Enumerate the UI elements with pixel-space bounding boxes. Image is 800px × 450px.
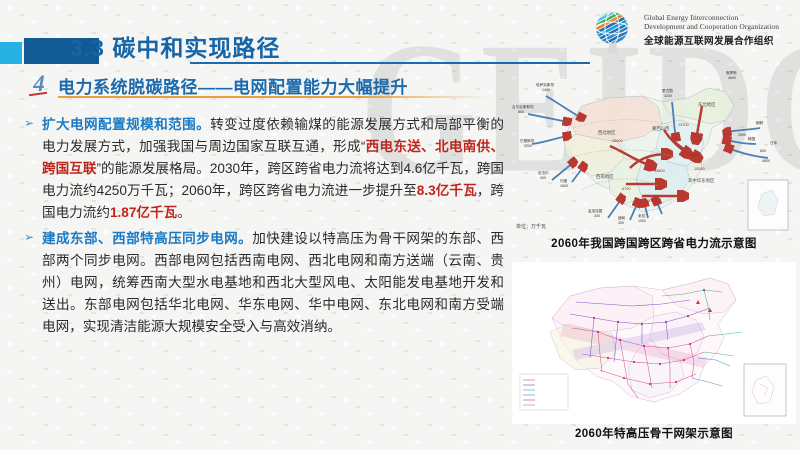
svg-text:4600: 4600 — [728, 76, 736, 80]
bullet-2-text: 建成东部、西部特高压同步电网。加快建设以特高压为骨干网架的东部、西部两个同步电网… — [42, 228, 504, 338]
text-run-blue: 扩大电网配置规模和范围。 — [42, 117, 210, 132]
svg-text:1000: 1000 — [638, 219, 646, 223]
svg-text:蒙西山西: 蒙西山西 — [652, 125, 670, 132]
geidco-logo: Global Energy Interconnection Developmen… — [588, 8, 794, 54]
svg-text:孟加拉国: 孟加拉国 — [588, 208, 603, 213]
svg-text:300: 300 — [618, 221, 624, 225]
figure-1-caption: 2060年我国跨国跨区跨省电力流示意图 — [512, 235, 796, 251]
svg-text:韩国: 韩国 — [748, 136, 756, 141]
svg-text:蒙古国: 蒙古国 — [662, 88, 673, 93]
svg-text:13700: 13700 — [678, 123, 689, 127]
svg-text:日本: 日本 — [770, 140, 778, 145]
text-run-normal: 。 — [177, 205, 191, 220]
svg-text:哈萨克斯坦: 哈萨克斯坦 — [536, 82, 554, 87]
svg-text:巴基斯坦: 巴基斯坦 — [520, 138, 535, 143]
list-item: ➢ 建成东部、西部特高压同步电网。加快建设以特高压为骨干网架的东部、西部两个同步… — [24, 228, 504, 338]
figure-2-caption: 2060年特高压骨干网架示意图 — [512, 425, 796, 441]
svg-text:15700: 15700 — [646, 199, 657, 203]
subtitle-divider — [58, 96, 488, 98]
svg-text:1400: 1400 — [542, 88, 550, 92]
svg-text:缅甸: 缅甸 — [618, 215, 626, 220]
svg-text:6700: 6700 — [622, 187, 630, 191]
text-run-red: 1.87亿千瓦 — [110, 205, 177, 220]
svg-text:10000: 10000 — [694, 167, 705, 171]
section-number-badge: 4 — [26, 71, 52, 97]
title-accent-square — [0, 42, 22, 64]
section-subtitle: 电力系统脱碳路径——电网配置能力大幅提升 — [58, 73, 408, 98]
svg-text:朝鲜: 朝鲜 — [756, 120, 764, 125]
svg-text:4600: 4600 — [762, 159, 770, 163]
svg-text:600: 600 — [760, 149, 766, 153]
svg-text:28600: 28600 — [612, 139, 623, 143]
map-unit-note: 单位：万千瓦 — [516, 223, 546, 230]
china-power-flow-svg: 东北地区 西北地区 蒙西山西 西南地区 华中华东地区 — [512, 62, 796, 234]
bullet-marker-icon: ➢ — [24, 116, 34, 130]
svg-text:300: 300 — [540, 176, 546, 180]
power-flow-map-canvas: 东北地区 西北地区 蒙西山西 西南地区 华中华东地区 — [512, 62, 796, 234]
bullet-1-text: 扩大电网配置规模和范围。转变过度依赖输煤的能源发展方式和局部平衡的电力发展方式，… — [42, 114, 504, 224]
svg-text:300: 300 — [594, 214, 600, 218]
text-run-normal: 加快建设以特高压为骨干网架的东部、西部两个同步电网。西部电网包括西南电网、西北电… — [42, 231, 504, 334]
list-item: ➢ 扩大电网配置规模和范围。转变过度依赖输煤的能源发展方式和局部平衡的电力发展方… — [24, 114, 504, 224]
body-content: ➢ 扩大电网配置规模和范围。转变过度依赖输煤的能源发展方式和局部平衡的电力发展方… — [24, 114, 504, 342]
svg-text:俄罗斯: 俄罗斯 — [726, 70, 737, 75]
svg-text:23600: 23600 — [654, 169, 665, 173]
logo-en-line1: Global Energy Interconnection — [644, 13, 738, 22]
logo-cn-name: 全球能源互联网发展合作组织 — [644, 33, 774, 47]
text-run-blue: 建成东部、西部特高压同步电网。 — [42, 231, 252, 246]
bullet-marker-icon: ➢ — [24, 230, 34, 244]
svg-text:华中华东地区: 华中华东地区 — [688, 177, 715, 184]
svg-text:吉尔吉斯斯坦: 吉尔吉斯斯坦 — [512, 104, 534, 109]
svg-text:2500: 2500 — [738, 133, 746, 137]
page-title: 3.3 碳中和实现路径 — [70, 29, 280, 63]
text-run-red: 8.3亿千瓦 — [417, 183, 477, 198]
svg-text:老挝: 老挝 — [638, 213, 646, 218]
svg-text:7000: 7000 — [690, 153, 698, 157]
svg-text:1600: 1600 — [560, 184, 568, 188]
svg-text:西北地区: 西北地区 — [598, 129, 616, 136]
svg-text:西南地区: 西南地区 — [596, 173, 614, 180]
figure-uhv-grid-map: 2060年特高压骨干网架示意图 — [512, 262, 796, 450]
uhv-grid-map-canvas — [512, 262, 796, 424]
svg-text:1200: 1200 — [524, 144, 532, 148]
section-subtitle-row: 4 电力系统脱碳路径——电网配置能力大幅提升 — [26, 70, 546, 100]
svg-text:800: 800 — [518, 110, 524, 114]
svg-text:尼泊尔: 尼泊尔 — [538, 170, 549, 175]
logo-en-line2: Development and Cooperation Organization — [644, 22, 779, 31]
figure-power-flow-map: 东北地区 西北地区 蒙西山西 西南地区 华中华东地区 — [512, 62, 796, 262]
china-uhv-grid-svg — [512, 262, 796, 424]
globe-logo-icon — [588, 8, 638, 54]
svg-text:印度: 印度 — [560, 178, 568, 183]
svg-text:3200: 3200 — [664, 94, 672, 98]
